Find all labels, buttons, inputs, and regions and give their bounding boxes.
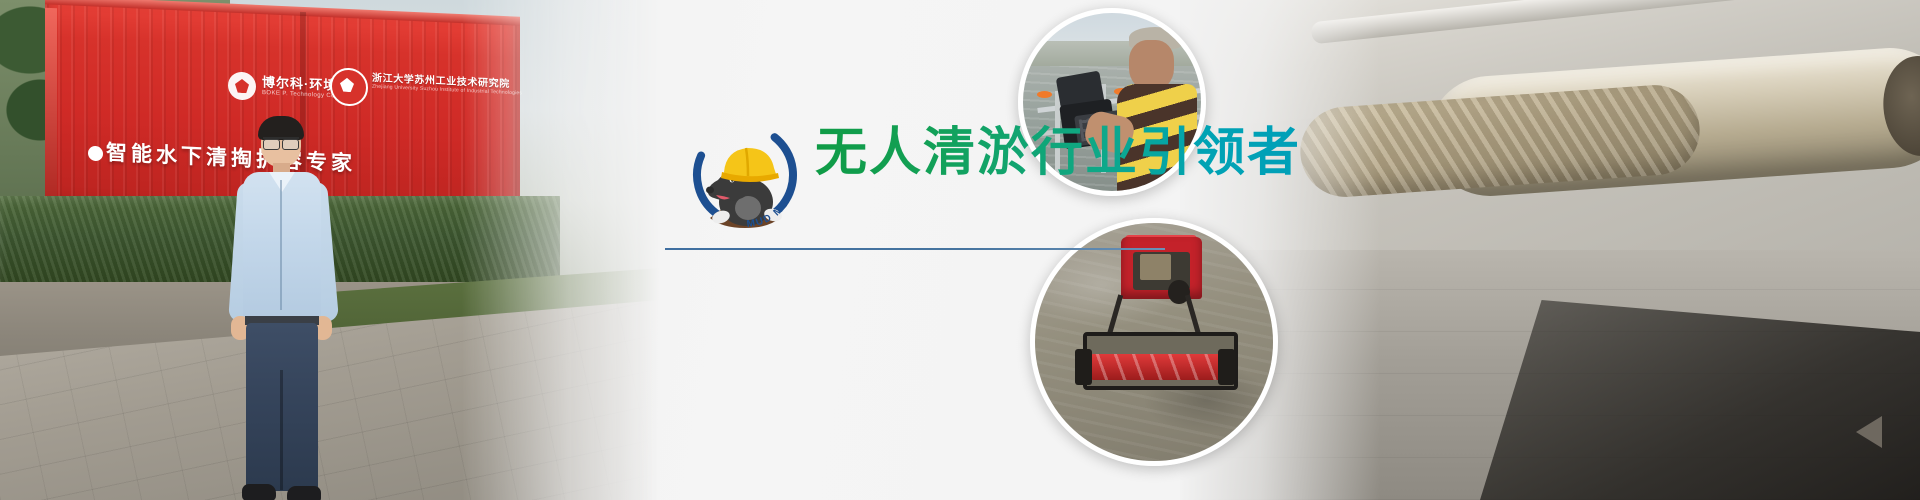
sludge-pipe-photo [1180,0,1920,500]
mud-mole-logo-svg: MUD MOLE [680,110,810,240]
engineer-left-shoe [242,484,276,500]
container-front-edge [45,8,57,224]
boke-logo-icon [228,71,256,100]
engineer-glasses-icon [263,137,299,148]
engineer-right-shoe [287,486,321,500]
hero-banner: 博尔科·环境 BOKE P. Technology Co.,Ltd. 浙江大学苏… [0,0,1920,500]
left-container-photo: 博尔科·环境 BOKE P. Technology Co.,Ltd. 浙江大学苏… [0,0,660,500]
circle2-auger-cap-right [1218,349,1235,385]
shadow-overlay [1480,300,1920,500]
headline-divider [665,248,1165,250]
slogan-bullet-icon [88,146,103,162]
mud-mole-logo: MUD MOLE [680,110,810,240]
banner-headline: 无人清淤行业引领者 [815,122,1301,184]
engineer-figure [225,120,343,500]
banner-center-block: MUD MOLE 无人清淤行业引领者 [655,0,1215,500]
logo-mole-snout [706,187,714,194]
engineer-leg-seam [280,370,283,490]
logo-helmet [724,148,776,178]
arrow-icon [1856,416,1882,448]
engineer-shirt-placket [280,180,282,310]
zju-logo-icon [330,67,368,107]
logo-mole-belly [735,196,761,220]
